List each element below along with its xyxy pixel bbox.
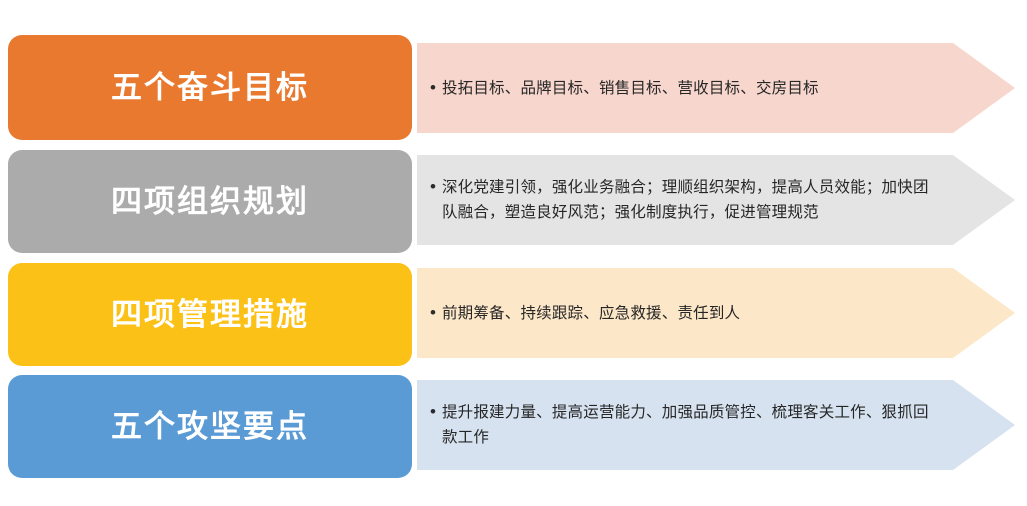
- bullet-icon: •: [430, 174, 436, 199]
- row-label-text: 四项组织规划: [111, 183, 309, 220]
- row-label-text: 五个奋斗目标: [111, 69, 309, 106]
- row-label-box[interactable]: 五个奋斗目标: [8, 35, 412, 140]
- diagram-canvas: 五个奋斗目标•投拓目标、品牌目标、销售目标、营收目标、交房目标四项组织规划•深化…: [0, 0, 1027, 506]
- row-body-text: 深化党建引领，强化业务融合；理顺组织架构，提高人员效能；加快团队融合，塑造良好风…: [442, 175, 929, 225]
- row-arrow-band: •投拓目标、品牌目标、销售目标、营收目标、交房目标: [417, 43, 1015, 133]
- row-body-wrapper: •投拓目标、品牌目标、销售目标、营收目标、交房目标: [417, 76, 1015, 101]
- row-body-text: 投拓目标、品牌目标、销售目标、营收目标、交房目标: [442, 76, 819, 101]
- bullet-icon: •: [430, 399, 436, 424]
- row-label-box[interactable]: 四项组织规划: [8, 150, 412, 253]
- bullet-icon: •: [430, 75, 436, 100]
- row-body-text: 前期筹备、持续跟踪、应急救援、责任到人: [442, 301, 740, 326]
- row-arrow-band: •提升报建力量、提高运营能力、加强品质管控、梳理客关工作、狠抓回款工作: [417, 380, 1015, 470]
- row-arrow-band: •前期筹备、持续跟踪、应急救援、责任到人: [417, 268, 1015, 358]
- row-arrow-band: •深化党建引领，强化业务融合；理顺组织架构，提高人员效能；加快团队融合，塑造良好…: [417, 155, 1015, 245]
- row-body-wrapper: •深化党建引领，强化业务融合；理顺组织架构，提高人员效能；加快团队融合，塑造良好…: [417, 175, 1015, 225]
- row-label-box[interactable]: 五个攻坚要点: [8, 375, 412, 478]
- row-body-text: 提升报建力量、提高运营能力、加强品质管控、梳理客关工作、狠抓回款工作: [442, 400, 929, 450]
- bullet-icon: •: [430, 300, 436, 325]
- row-label-text: 五个攻坚要点: [111, 408, 309, 445]
- row-body-wrapper: •提升报建力量、提高运营能力、加强品质管控、梳理客关工作、狠抓回款工作: [417, 400, 1015, 450]
- row-label-text: 四项管理措施: [111, 296, 309, 333]
- row-body-wrapper: •前期筹备、持续跟踪、应急救援、责任到人: [417, 301, 1015, 326]
- row-label-box[interactable]: 四项管理措施: [8, 263, 412, 366]
